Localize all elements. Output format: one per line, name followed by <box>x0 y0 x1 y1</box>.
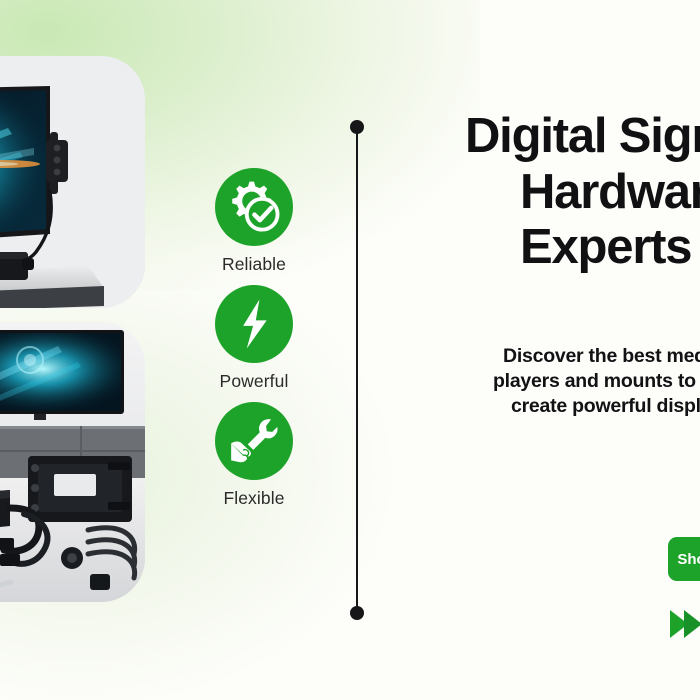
shop-now-button[interactable]: Shop Now <box>668 537 700 581</box>
feature-item-powerful[interactable]: Powerful <box>186 285 322 392</box>
subcopy-line-1: Discover the best media <box>503 344 700 369</box>
feature-label-flexible: Flexible <box>223 488 284 509</box>
lightning-bolt-icon <box>225 295 283 353</box>
divider-line <box>356 126 358 614</box>
gear-check-icon-circle <box>215 168 293 246</box>
headline-line-2: Hardware <box>520 168 700 217</box>
vertical-dotted-divider <box>349 120 365 620</box>
promo-banner: Reliable Powerful <box>0 0 700 700</box>
lightning-bolt-icon-circle <box>215 285 293 363</box>
headline-line-1: Digital Signage <box>465 112 700 161</box>
feature-item-flexible[interactable]: Flexible <box>186 402 322 509</box>
feature-label-reliable: Reliable <box>222 254 286 275</box>
hand-wrench-icon-circle <box>215 402 293 480</box>
gear-check-icon <box>225 178 283 236</box>
hand-wrench-icon <box>225 412 283 470</box>
wall-mounted-tv-photo <box>0 56 145 308</box>
media-player-accessories-photo <box>0 322 145 602</box>
play-arrow-icon[interactable] <box>668 607 700 641</box>
subcopy-line-2: players and mounts to <box>493 369 700 394</box>
feature-label-powerful: Powerful <box>220 371 289 392</box>
subtitle-text: Discover the best media players and moun… <box>503 344 700 419</box>
subcopy-line-3: create powerful displays <box>511 394 700 419</box>
page-title: Digital Signage Hardware Experts <box>465 112 700 272</box>
feature-list: Reliable Powerful <box>186 168 322 519</box>
feature-item-reliable[interactable]: Reliable <box>186 168 322 275</box>
headline-line-3: Experts <box>520 223 700 272</box>
divider-dot-bottom <box>350 606 364 620</box>
